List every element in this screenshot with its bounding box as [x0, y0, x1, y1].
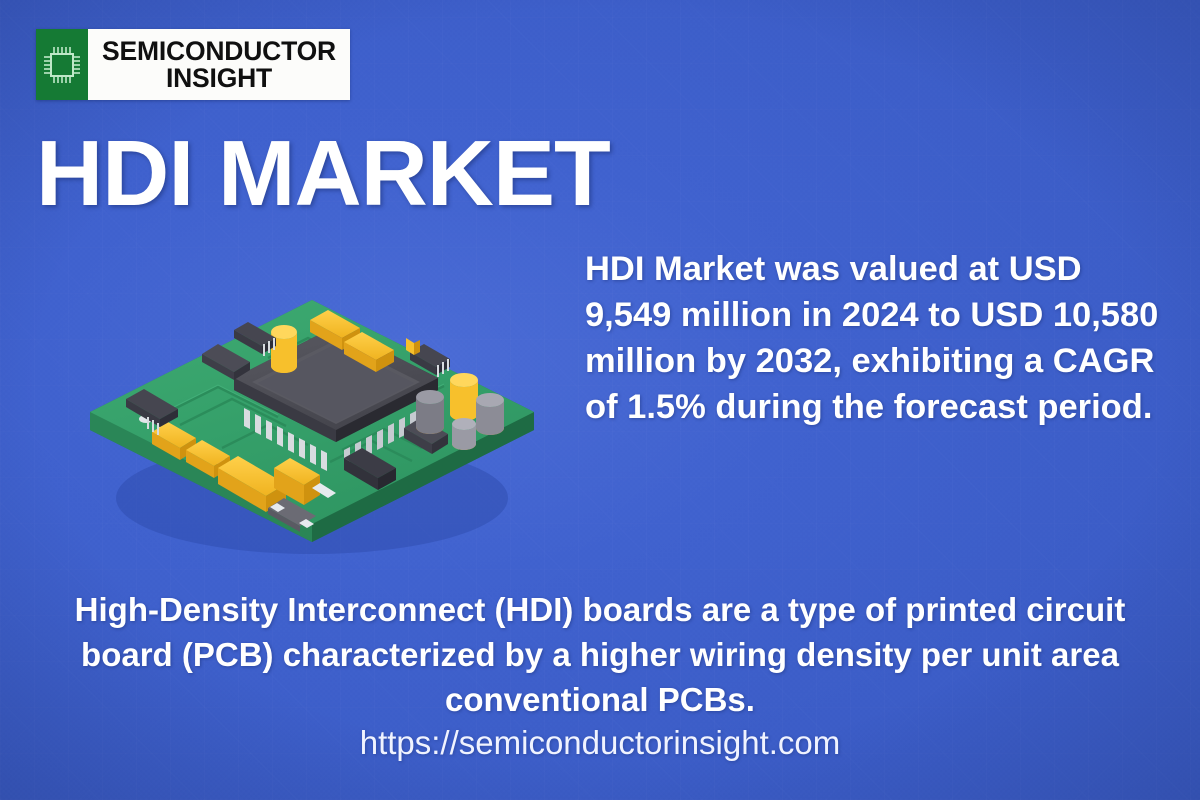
- infographic-canvas: SEMICONDUCTOR INSIGHT HDI MARKET: [0, 0, 1200, 800]
- brand-name-line2: INSIGHT: [166, 65, 272, 92]
- brand-name-line1: SEMICONDUCTOR: [102, 38, 336, 65]
- brand-logo-text: SEMICONDUCTOR INSIGHT: [88, 29, 350, 100]
- market-stat-paragraph: HDI Market was valued at USD 9,549 milli…: [585, 247, 1175, 431]
- hdi-description-paragraph: High-Density Interconnect (HDI) boards a…: [45, 588, 1155, 723]
- brand-logo[interactable]: SEMICONDUCTOR INSIGHT: [36, 29, 350, 100]
- isometric-pcb-illustration: [72, 262, 552, 562]
- microchip-icon: [36, 29, 88, 100]
- page-title: HDI MARKET: [36, 127, 610, 220]
- website-url[interactable]: https://semiconductorinsight.com: [45, 723, 1155, 763]
